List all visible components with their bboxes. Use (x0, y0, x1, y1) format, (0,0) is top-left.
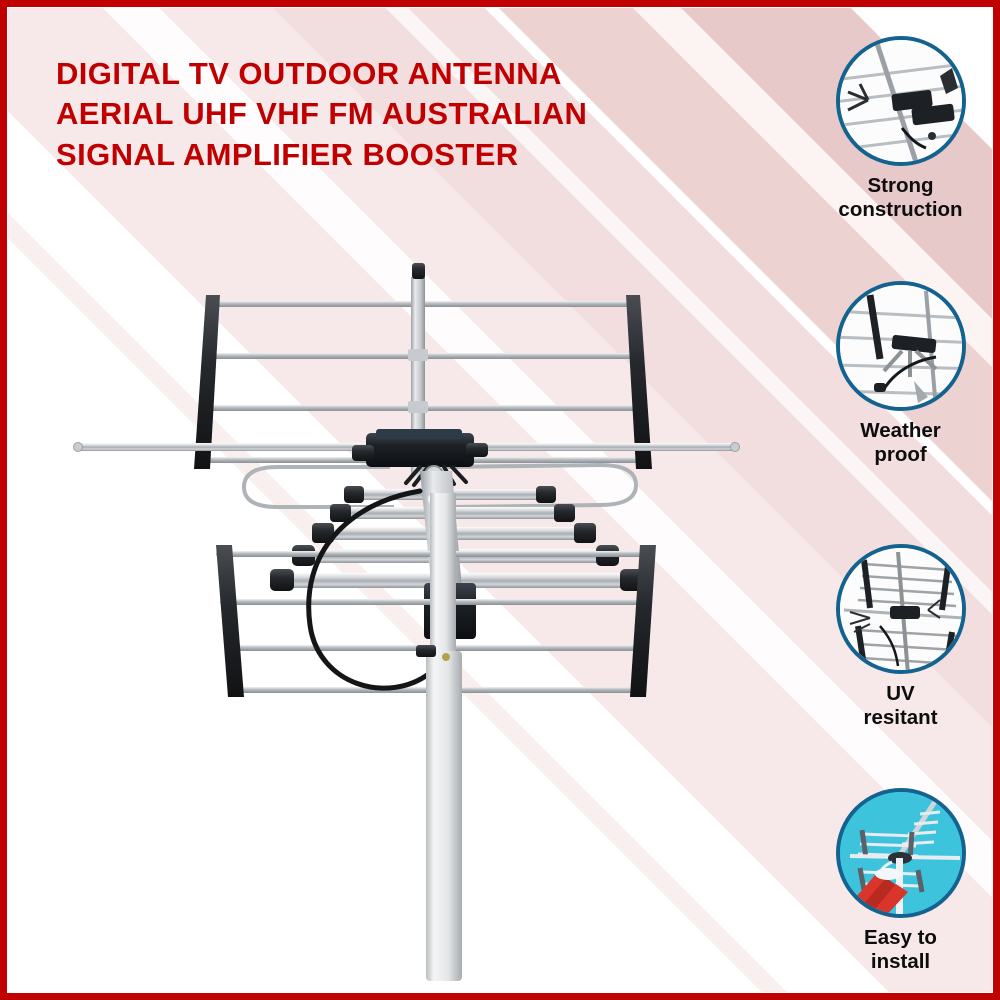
antenna-on-roof-icon (836, 788, 966, 918)
mast (416, 493, 462, 981)
title-line-2: AERIAL UHF VHF FM AUSTRALIAN (56, 94, 716, 134)
page-title: DIGITAL TV OUTDOOR ANTENNA AERIAL UHF VH… (56, 54, 716, 175)
title-line-3: SIGNAL AMPLIFIER BOOSTER (56, 135, 716, 175)
antenna-full-view-icon (836, 544, 966, 674)
feature-label: UV resitant (803, 682, 993, 730)
feature-easy-to-install[interactable]: Easy to install (803, 788, 993, 974)
feature-label: Easy to install (803, 926, 993, 974)
antenna-closeup-mount-icon (836, 281, 966, 411)
title-line-1: DIGITAL TV OUTDOOR ANTENNA (56, 54, 716, 94)
feature-strong-construction[interactable]: Strong construction (803, 36, 993, 222)
feature-list: Strong construction (803, 36, 993, 976)
feature-label: Weather proof (803, 419, 993, 467)
amplifier-housing (352, 429, 488, 487)
feature-uv-resistant[interactable]: UV resitant (803, 544, 993, 730)
feature-label: Strong construction (803, 174, 993, 222)
antenna-closeup-amplifier-icon (836, 36, 966, 166)
coax-cable (309, 491, 430, 688)
banner-inner-panel: DIGITAL TV OUTDOOR ANTENNA AERIAL UHF VH… (7, 7, 993, 993)
product-banner: DIGITAL TV OUTDOOR ANTENNA AERIAL UHF VH… (0, 0, 1000, 1000)
product-image (48, 253, 788, 983)
feature-weather-proof[interactable]: Weather proof (803, 281, 993, 467)
